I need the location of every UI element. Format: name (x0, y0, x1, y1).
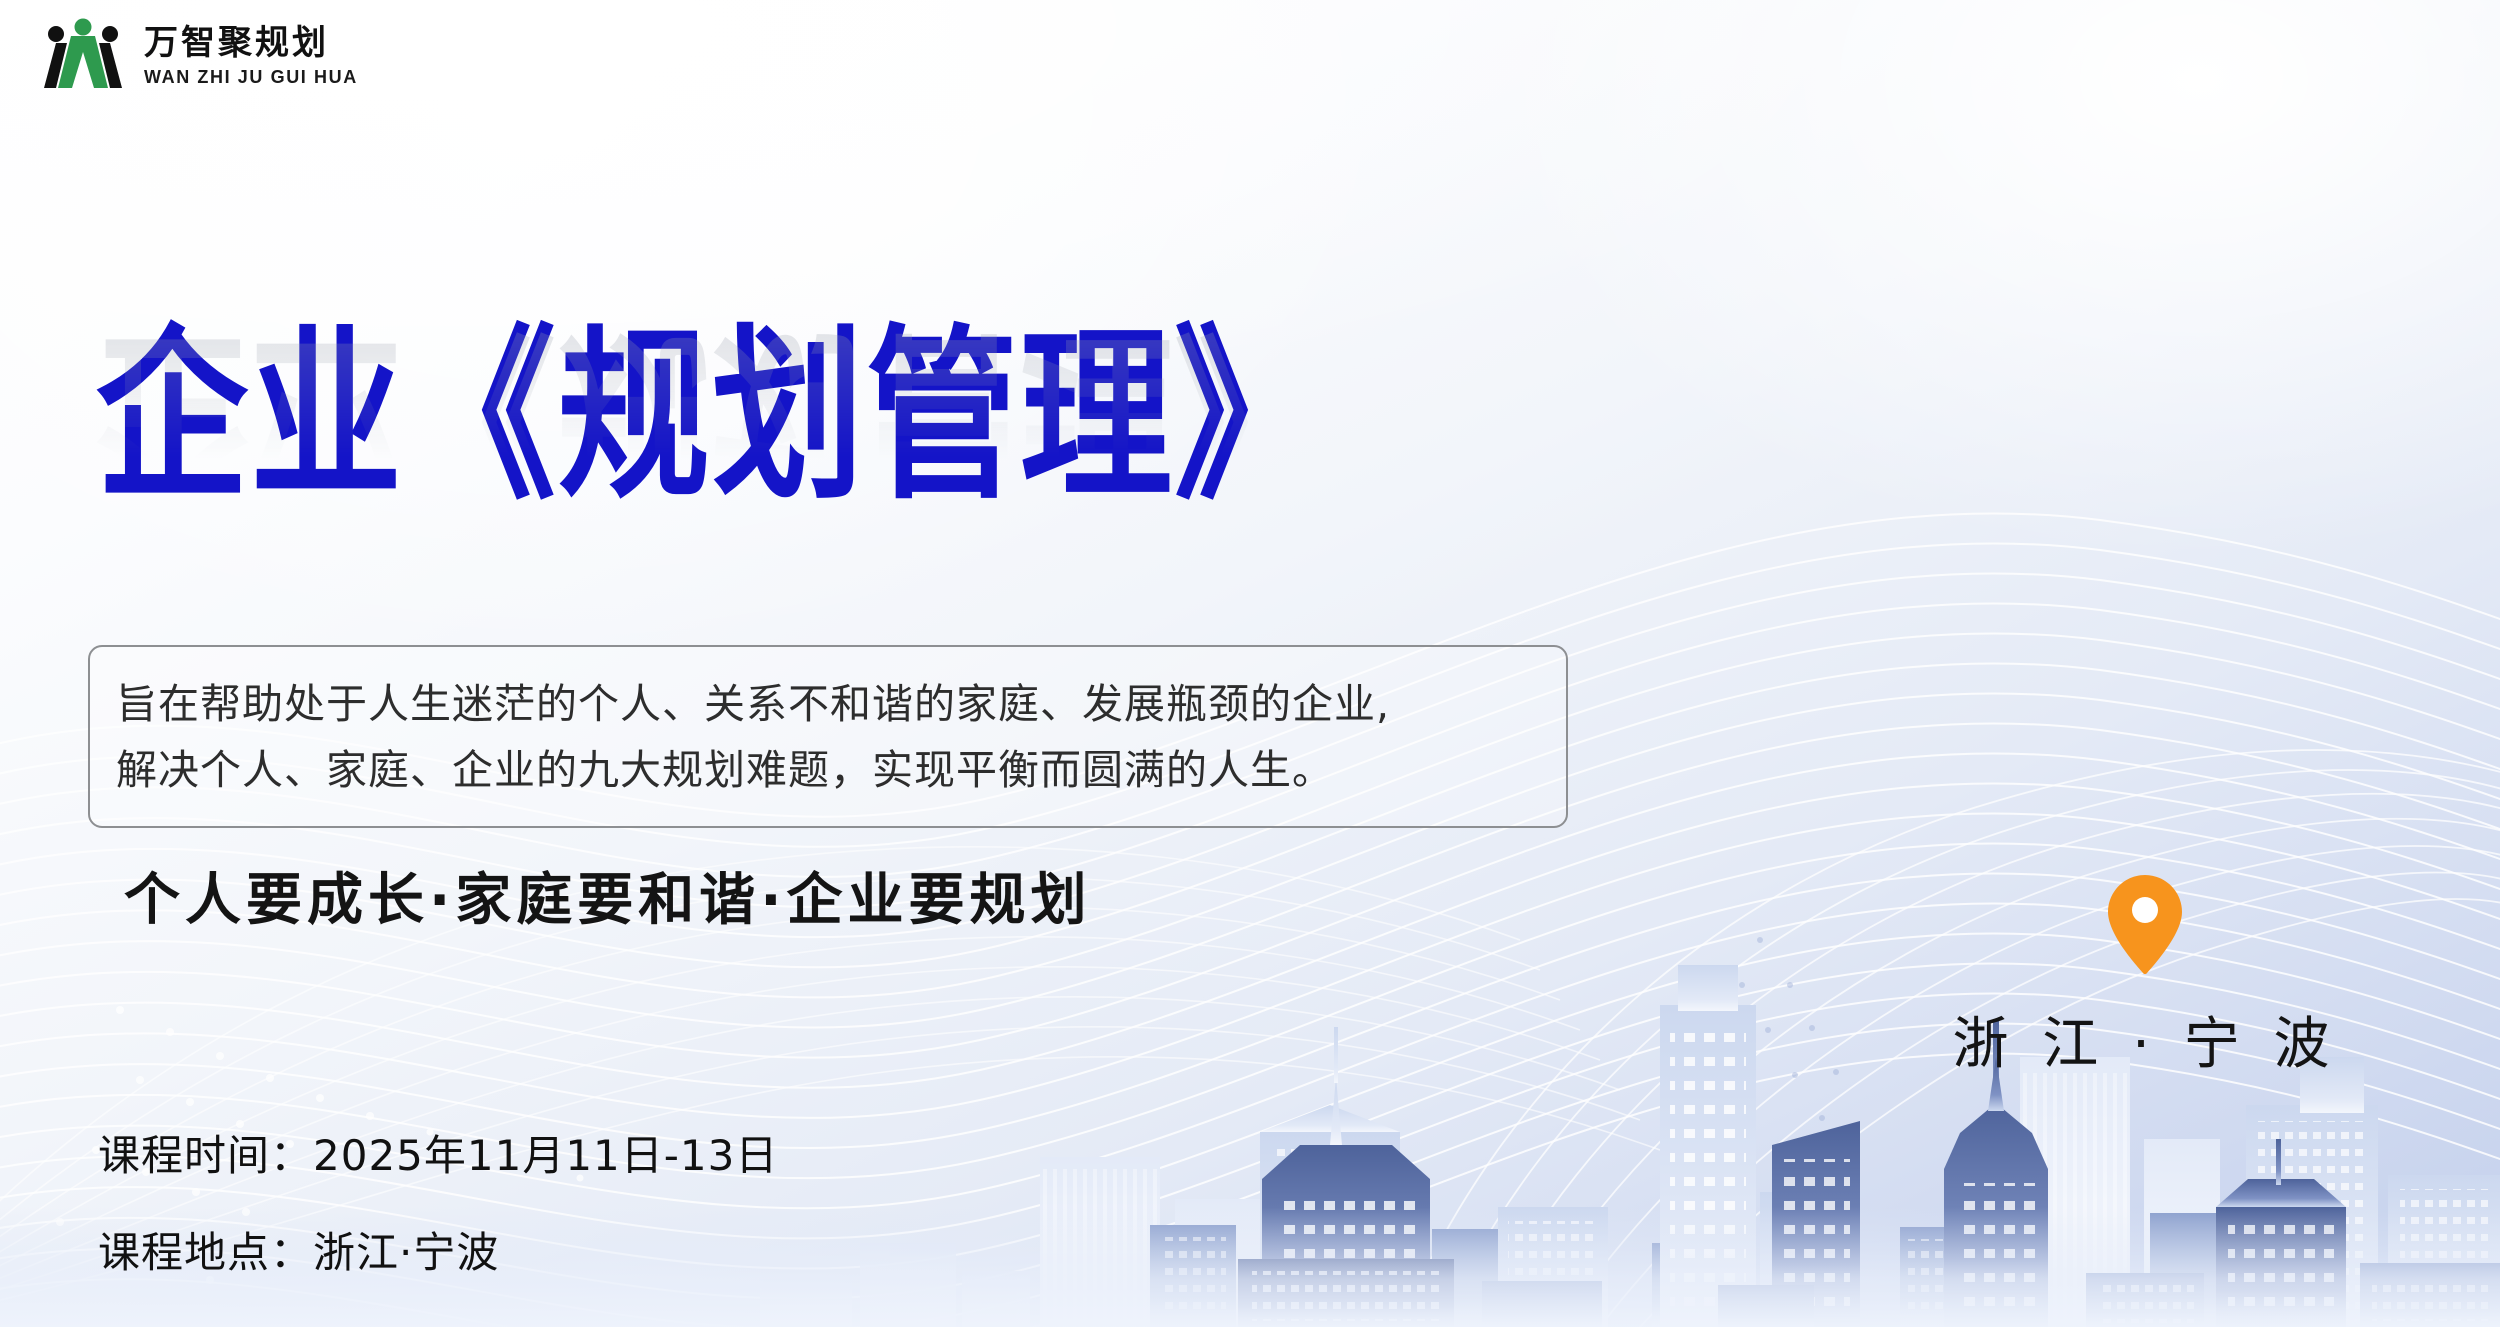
course-place-row: 课程地点：浙江·宁波 (98, 1219, 778, 1280)
location-label: 浙 江 · 宁 波 (1945, 999, 2345, 1080)
page-title: 企业《规划管理》 企业《规划管理》 (96, 318, 1328, 479)
main-title-reflection: 企业《规划管理》 (96, 317, 1328, 514)
three-people-mark-icon (36, 18, 130, 94)
brand-name-en: WAN ZHI JU GUI HUA (144, 68, 358, 86)
course-time-row: 课程时间：2025年11月11日-13日 (98, 1122, 778, 1183)
course-info: 课程时间：2025年11月11日-13日 课程地点：浙江·宁波 (98, 1122, 778, 1280)
map-pin-icon (2108, 875, 2182, 975)
brand-logo: 万智聚规划 WAN ZHI JU GUI HUA (36, 18, 358, 94)
location-marker: 浙 江 · 宁 波 (1945, 875, 2345, 1080)
poster-canvas: 万智聚规划 WAN ZHI JU GUI HUA 企业《规划管理》 企业《规划管… (0, 0, 2500, 1327)
description-line-2: 解决个人、家庭、企业的九大规划难题，实现平衡而圆满的人生。 (116, 737, 1540, 803)
description-line-1: 旨在帮助处于人生迷茫的个人、关系不和谐的家庭、发展瓶颈的企业, (116, 671, 1540, 737)
description-box: 旨在帮助处于人生迷茫的个人、关系不和谐的家庭、发展瓶颈的企业, 解决个人、家庭、… (88, 645, 1568, 828)
brand-name-cn: 万智聚规划 (144, 27, 358, 61)
tagline-text: 个人要成长·家庭要和谐·企业要规划 (124, 855, 1092, 936)
